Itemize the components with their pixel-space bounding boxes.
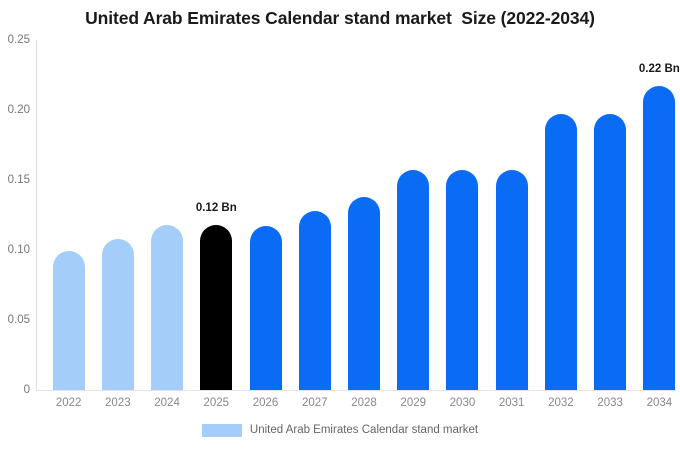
plot-area: 00.050.100.150.200.25 202220232024202520… bbox=[36, 40, 676, 390]
x-axis-tick-label: 2029 bbox=[389, 398, 438, 410]
chart-legend: United Arab Emirates Calendar stand mark… bbox=[0, 424, 680, 437]
y-axis-tick-label: 0 bbox=[0, 385, 30, 397]
x-axis-tick-label: 2023 bbox=[93, 398, 142, 410]
bar bbox=[53, 251, 85, 390]
bar-value-label: 0.12 Bn bbox=[176, 203, 256, 215]
x-axis-line bbox=[36, 390, 676, 391]
y-axis-tick-label: 0.10 bbox=[0, 245, 30, 257]
bar bbox=[446, 170, 478, 390]
x-axis-tick-label: 2032 bbox=[536, 398, 585, 410]
x-axis-tick-label: 2024 bbox=[142, 398, 191, 410]
legend-label: United Arab Emirates Calendar stand mark… bbox=[250, 425, 478, 437]
x-axis-tick-label: 2027 bbox=[290, 398, 339, 410]
bar bbox=[299, 211, 331, 390]
bar bbox=[151, 225, 183, 390]
x-axis-tick-label: 2031 bbox=[487, 398, 536, 410]
bar bbox=[545, 114, 577, 390]
bar bbox=[102, 239, 134, 390]
bar-value-label: 0.22 Bn bbox=[619, 64, 680, 76]
y-axis-tick-label: 0.20 bbox=[0, 105, 30, 117]
x-axis-tick-label: 2030 bbox=[438, 398, 487, 410]
x-axis-tick-label: 2022 bbox=[44, 398, 93, 410]
x-axis-tick-label: 2025 bbox=[192, 398, 241, 410]
x-axis-tick-label: 2034 bbox=[635, 398, 680, 410]
bar-chart: United Arab Emirates Calendar stand mark… bbox=[0, 0, 680, 450]
bar bbox=[200, 225, 232, 390]
bar bbox=[496, 170, 528, 390]
x-axis-tick-label: 2028 bbox=[339, 398, 388, 410]
bar bbox=[348, 197, 380, 390]
y-axis-tick-label: 0.15 bbox=[0, 175, 30, 187]
y-axis-tick-label: 0.05 bbox=[0, 315, 30, 327]
x-axis-tick-label: 2033 bbox=[586, 398, 635, 410]
bar bbox=[397, 170, 429, 390]
y-axis-tick-label: 0.25 bbox=[0, 35, 30, 47]
legend-swatch-icon bbox=[202, 424, 242, 437]
bar bbox=[594, 114, 626, 390]
y-axis-line bbox=[36, 40, 37, 390]
bar bbox=[250, 226, 282, 390]
x-axis-tick-label: 2026 bbox=[241, 398, 290, 410]
bar bbox=[643, 86, 675, 390]
chart-title: United Arab Emirates Calendar stand mark… bbox=[0, 8, 680, 29]
